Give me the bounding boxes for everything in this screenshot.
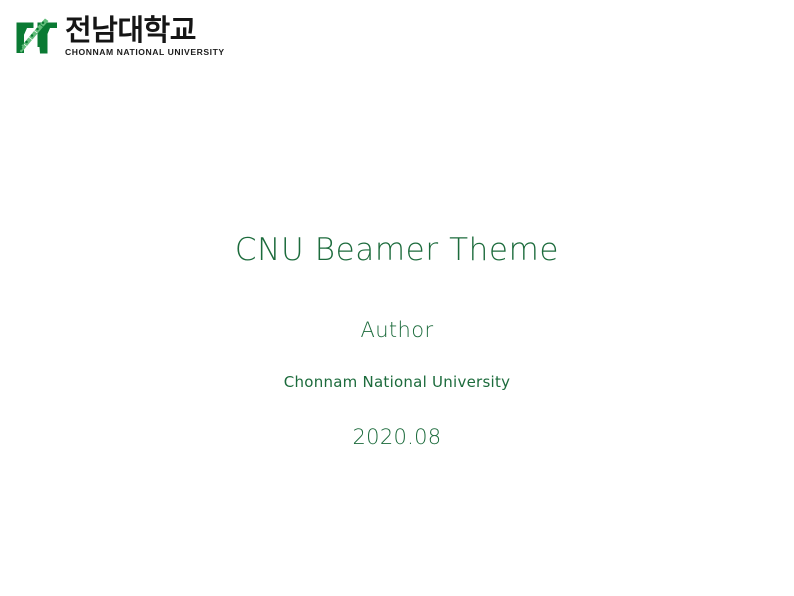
university-logo: 전남대학교 CHONNAM NATIONAL UNIVERSITY [15, 16, 225, 58]
presentation-author: Author [0, 318, 794, 342]
logo-english-name: CHONNAM NATIONAL UNIVERSITY [65, 48, 225, 57]
presentation-date: 2020.08 [0, 425, 794, 449]
presentation-slide: 전남대학교 CHONNAM NATIONAL UNIVERSITY CNU Be… [0, 0, 794, 596]
presentation-title: CNU Beamer Theme [0, 233, 794, 269]
university-emblem-icon [15, 16, 59, 58]
logo-wordmark: 전남대학교 CHONNAM NATIONAL UNIVERSITY [65, 16, 225, 57]
logo-korean-name: 전남대학교 [65, 16, 225, 45]
presentation-institute: Chonnam National University [0, 374, 794, 391]
